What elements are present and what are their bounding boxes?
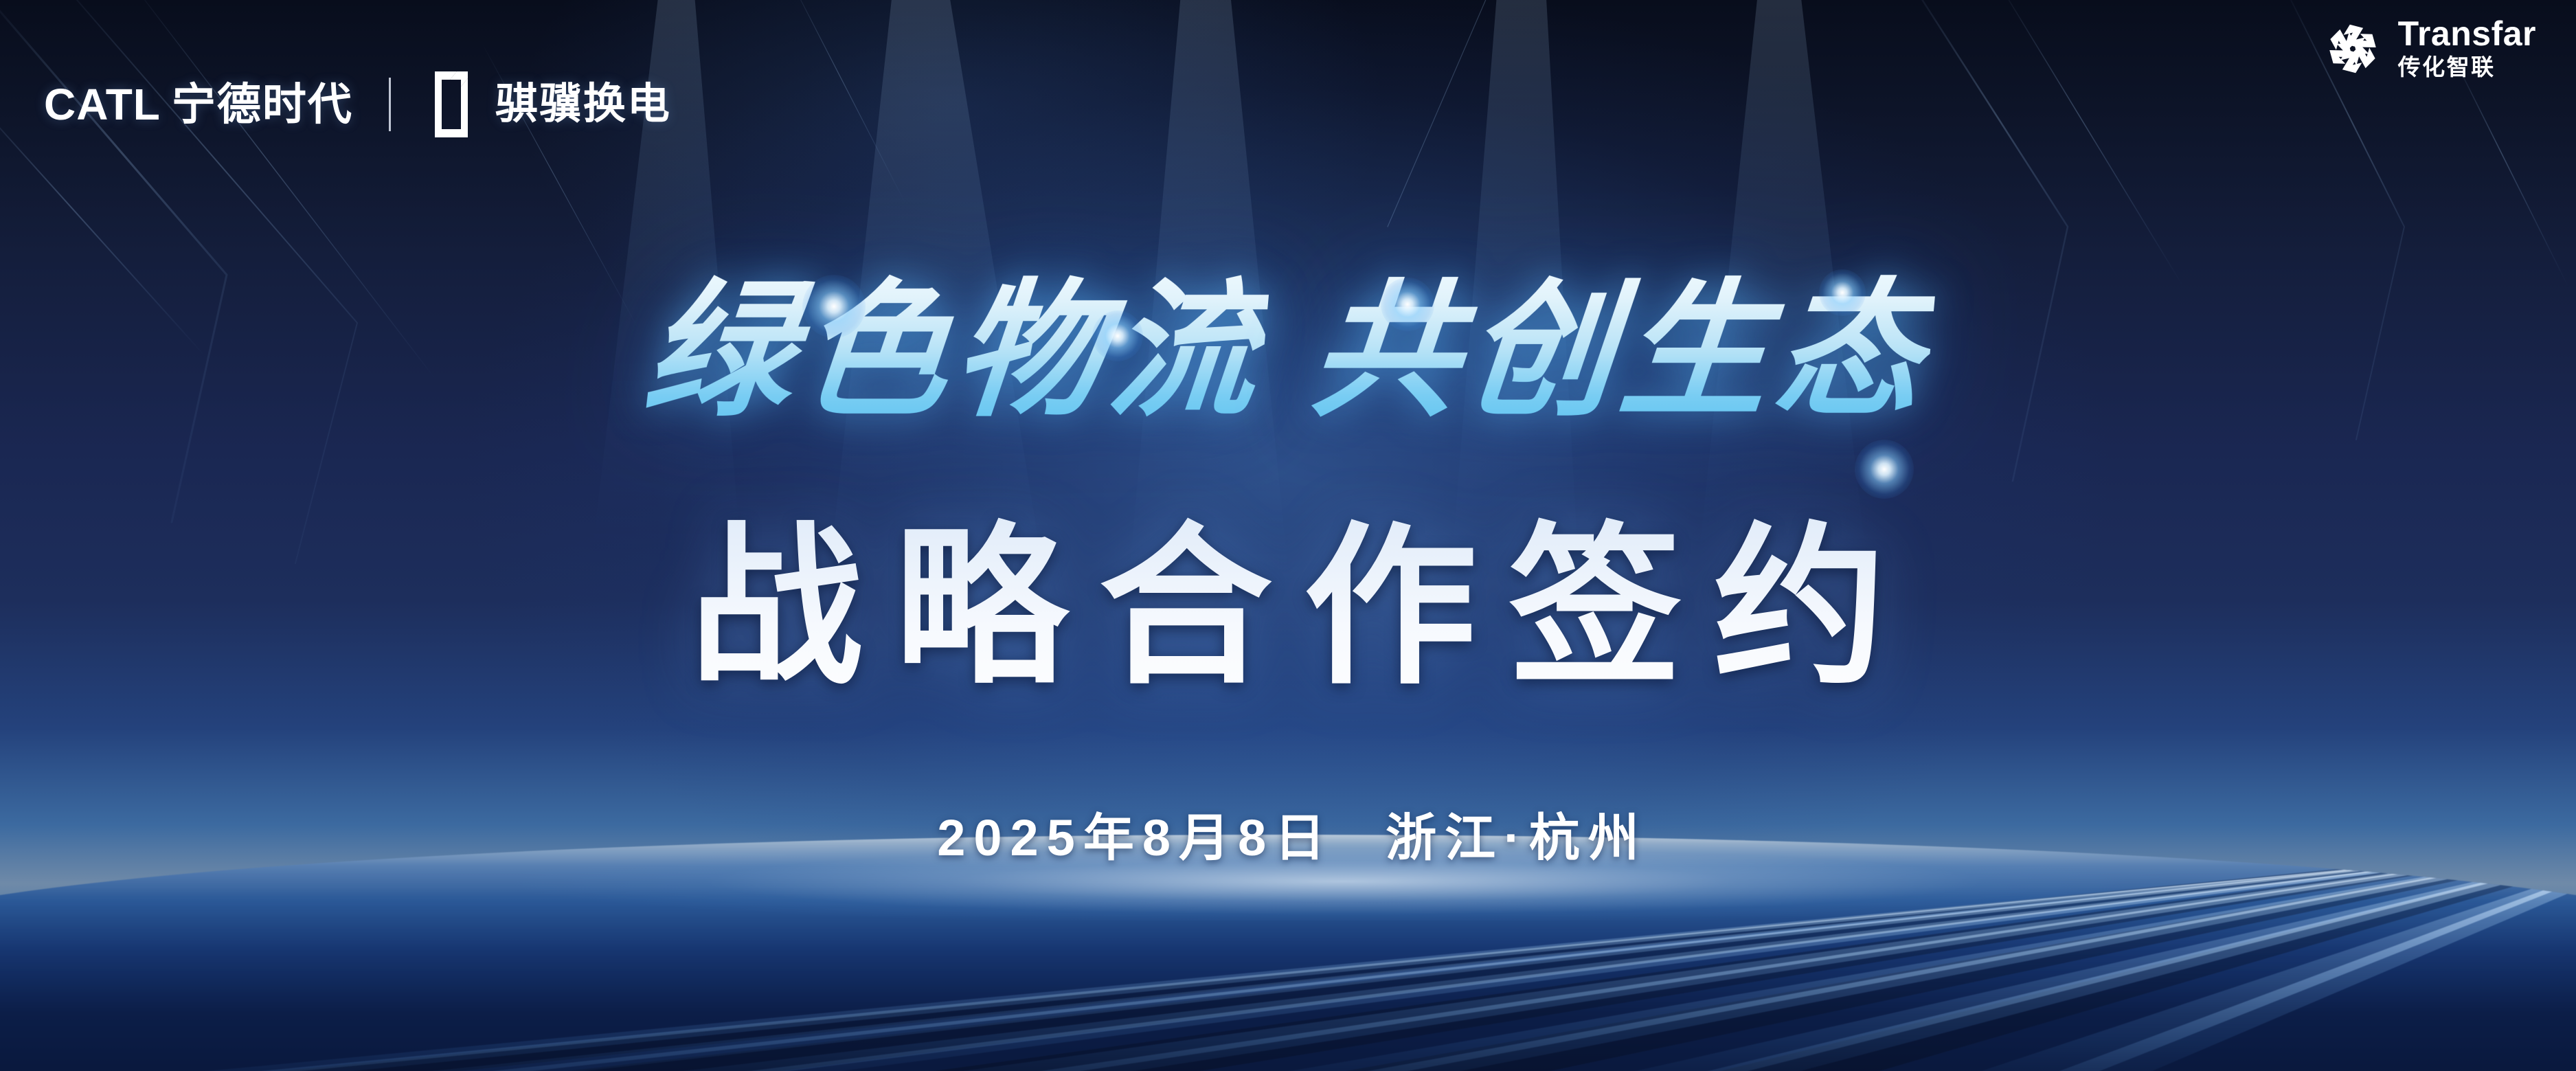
calligraphy-phrase-left: 绿色物流	[637, 256, 1272, 444]
qiji-logo: 骐骥换电	[427, 66, 671, 143]
sparkle-glint-2	[1092, 311, 1143, 361]
event-location: 浙江·杭州	[1386, 809, 1647, 866]
transfar-name-en: Transfar	[2398, 16, 2536, 52]
calligraphy-headline: 绿色物流 共创生态	[0, 256, 2576, 444]
main-title: 战略合作签约	[0, 499, 2576, 717]
transfar-wordmark: Transfar 传化智联	[2398, 16, 2536, 81]
sparkle-glint-5	[1855, 440, 1914, 499]
partner-logo-transfar: Transfar 传化智联	[2324, 16, 2536, 81]
event-date: 2025年8月8日	[937, 809, 1333, 866]
qiji-logo-label: 骐骥换电	[495, 83, 671, 126]
battery-swap-icon	[427, 66, 476, 143]
sparkle-glint-3	[1381, 278, 1434, 331]
sparkle-glint-4	[1819, 269, 1866, 316]
catl-logo-en: CATL	[44, 80, 161, 129]
catl-logo: CATL宁德时代	[44, 82, 353, 126]
logo-divider	[389, 78, 391, 131]
transfar-pinwheel-icon	[2324, 20, 2382, 78]
event-banner: CATL宁德时代 骐骥换电	[0, 0, 2576, 1071]
transfar-name-cn: 传化智联	[2398, 54, 2496, 81]
event-dateline: 2025年8月8日浙江·杭州	[0, 797, 2576, 870]
sparkle-glint-1	[802, 275, 866, 338]
partner-logo-group-left: CATL宁德时代 骐骥换电	[44, 66, 671, 143]
catl-logo-cn: 宁德时代	[172, 80, 353, 129]
calligraphy-phrase-right: 共创生态	[1304, 256, 1939, 444]
